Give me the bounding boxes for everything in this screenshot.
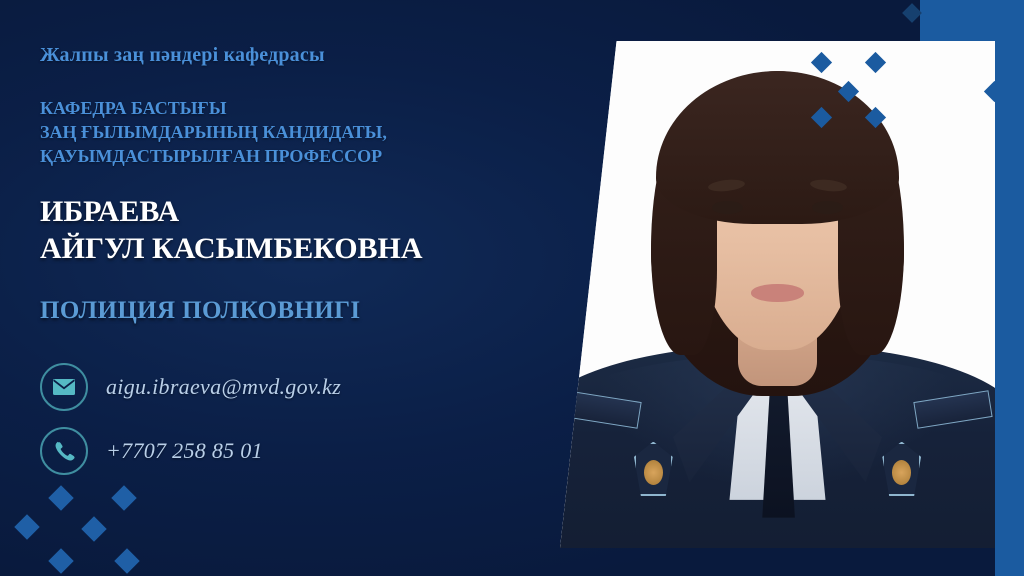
envelope-icon xyxy=(40,363,88,411)
role-line-2: ЗАҢ ҒЫЛЫМДАРЫНЫҢ КАНДИДАТЫ, xyxy=(40,121,540,145)
role-line-3: ҚАУЫМДАСТЫРЫЛҒАН ПРОФЕССОР xyxy=(40,145,540,169)
portrait-photo xyxy=(560,41,995,548)
role-block: КАФЕДРА БАСТЫҒЫ ЗАҢ ҒЫЛЫМДАРЫНЫҢ КАНДИДА… xyxy=(40,97,540,168)
person-name: ИБРАЕВА АЙГУЛ КАСЫМБЕКОВНА xyxy=(40,194,540,267)
eye-right xyxy=(812,201,842,214)
police-rank: ПОЛИЦИЯ ПОЛКОВНИГІ xyxy=(40,297,540,325)
text-column: Жалпы заң пәндері кафедрасы КАФЕДРА БАСТ… xyxy=(40,44,540,491)
given-names: АЙГУЛ КАСЫМБЕКОВНА xyxy=(40,231,540,268)
phone-icon xyxy=(40,427,88,475)
portrait-panel xyxy=(560,41,995,548)
contact-email-row[interactable]: aigu.ibraeva@mvd.gov.kz xyxy=(40,363,540,411)
lips xyxy=(751,284,803,301)
email-address[interactable]: aigu.ibraeva@mvd.gov.kz xyxy=(106,374,341,400)
surname: ИБРАЕВА xyxy=(40,194,540,231)
eye-left xyxy=(712,201,742,214)
contact-phone-row[interactable]: +7707 258 85 01 xyxy=(40,427,540,475)
phone-number[interactable]: +7707 258 85 01 xyxy=(106,438,263,464)
department-title: Жалпы заң пәндері кафедрасы xyxy=(40,44,540,67)
top-right-accent-block xyxy=(920,0,1024,44)
role-line-1: КАФЕДРА БАСТЫҒЫ xyxy=(40,97,540,121)
right-accent-strip xyxy=(995,0,1024,576)
presentation-slide: Жалпы заң пәндері кафедрасы КАФЕДРА БАСТ… xyxy=(0,0,1024,576)
